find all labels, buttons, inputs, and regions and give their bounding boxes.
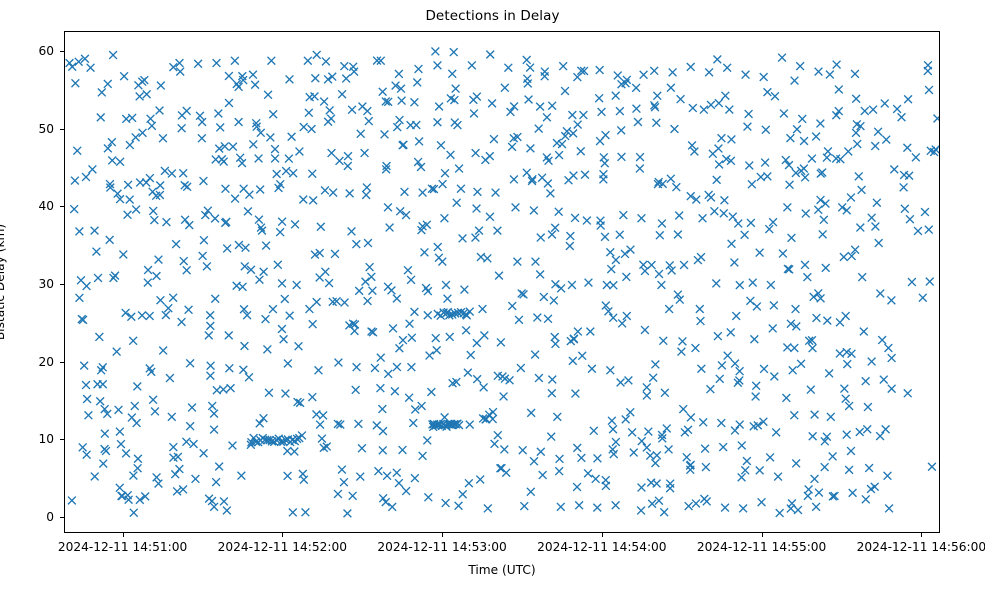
matplotlib-figure: Detections in Delay 2024-12-11 14:51:002… [0,0,985,590]
y-tick [60,362,64,363]
y-tick [60,129,64,130]
x-axis-label: Time (UTC) [64,563,940,577]
y-tick-label: 60 [0,44,54,58]
plot-area [64,31,940,533]
y-tick-label: 40 [0,199,54,213]
y-tick-label: 20 [0,355,54,369]
y-tick-label: 30 [0,277,54,291]
x-tick [442,533,443,537]
x-tick [123,533,124,537]
y-tick [60,51,64,52]
x-tick-label: 2024-12-11 14:53:00 [377,540,506,554]
y-tick-label: 10 [0,432,54,446]
x-tick-label: 2024-12-11 14:52:00 [218,540,347,554]
x-tick [762,533,763,537]
x-tick-label: 2024-12-11 14:56:00 [857,540,985,554]
x-tick-label: 2024-12-11 14:54:00 [537,540,666,554]
y-axis-label: Bistatic Delay (km) [0,224,7,340]
y-tick [60,284,64,285]
x-tick-label: 2024-12-11 14:51:00 [58,540,187,554]
x-tick [282,533,283,537]
y-tick-label: 0 [0,510,54,524]
x-tick [921,533,922,537]
y-tick [60,206,64,207]
scatter-series [65,32,940,533]
x-tick-label: 2024-12-11 14:55:00 [697,540,826,554]
y-tick-label: 50 [0,122,54,136]
chart-title: Detections in Delay [0,8,985,24]
y-tick [60,439,64,440]
y-tick [60,517,64,518]
x-tick [602,533,603,537]
